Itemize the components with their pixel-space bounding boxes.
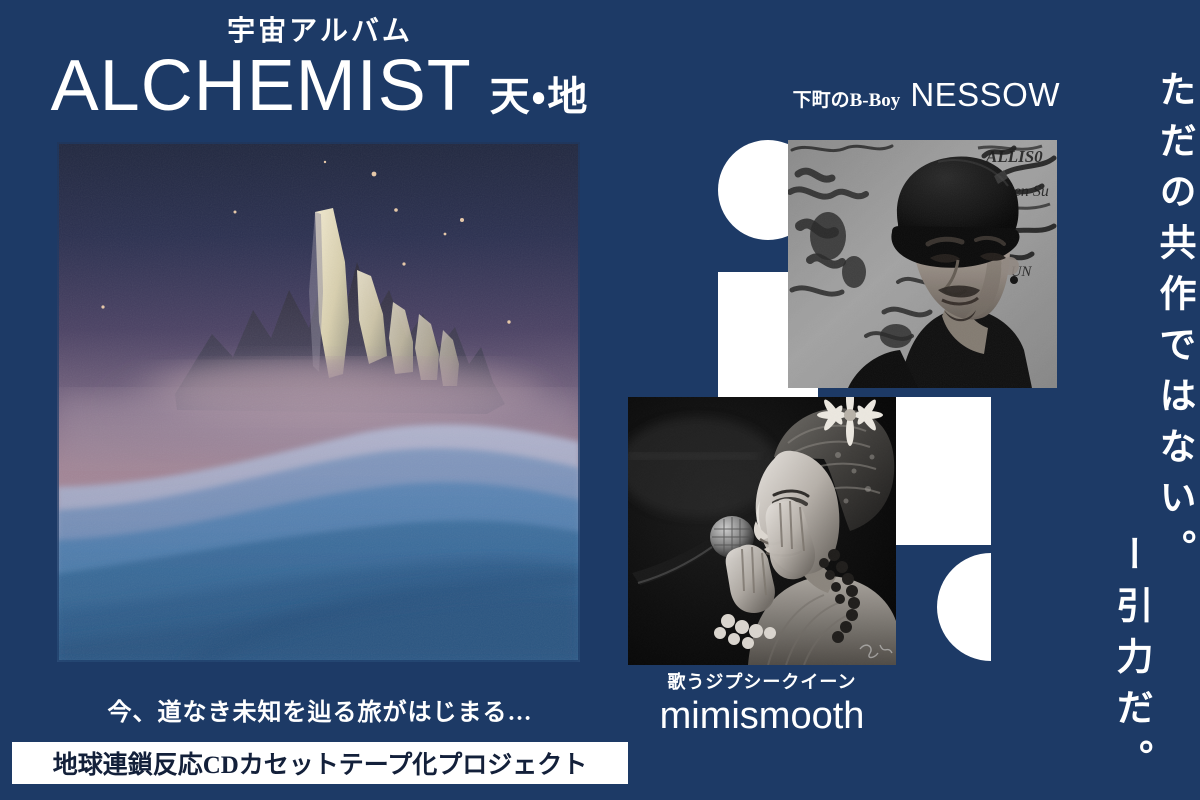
project-banner-label: 地球連鎖反応CDカセットテープ化プロジェクト xyxy=(53,745,588,781)
album-cover-art xyxy=(57,142,580,662)
artist-mimismooth-subtitle: 歌うジプシークイーン xyxy=(628,673,896,693)
artist-label-mimismooth: 歌うジプシークイーン mimismooth xyxy=(628,673,896,738)
title-row: ALCHEMIST 天・地 xyxy=(0,52,640,120)
album-art-caption: 今、道なき未知を辿る旅がはじまる… xyxy=(0,692,640,727)
decorative-half-circle-icon xyxy=(937,553,991,661)
page-title: ALCHEMIST xyxy=(51,52,472,120)
vertical-tagline: ー引力だ。 ただの共作ではない。 xyxy=(1112,70,1194,790)
project-banner: 地球連鎖反応CDカセットテープ化プロジェクト xyxy=(12,742,628,784)
album-subtitle: 天・地 xyxy=(490,77,590,117)
artist-label-nessow: 下町のB-BoyNESSOW xyxy=(760,76,1060,114)
poster-canvas: 宇宙アルバム ALCHEMIST 天・地 xyxy=(0,0,1200,800)
title-block: 宇宙アルバム ALCHEMIST 天・地 xyxy=(0,18,640,120)
tagline-column-2: ー引力だ。 xyxy=(1112,535,1149,790)
artist-photo-mimismooth xyxy=(628,397,896,665)
artist-nessow-name: NESSOW xyxy=(910,76,1060,113)
decorative-rectangle-shape xyxy=(896,397,991,545)
album-kicker: 宇宙アルバム xyxy=(0,18,640,46)
artist-mimismooth-name: mimismooth xyxy=(628,695,896,739)
artist-photo-nessow: ALLIS0 Buen Su in m UN xyxy=(788,140,1057,388)
tagline-column-1: ただの共作ではない。 xyxy=(1155,70,1192,790)
artist-nessow-subtitle: 下町のB-Boy xyxy=(793,90,901,111)
